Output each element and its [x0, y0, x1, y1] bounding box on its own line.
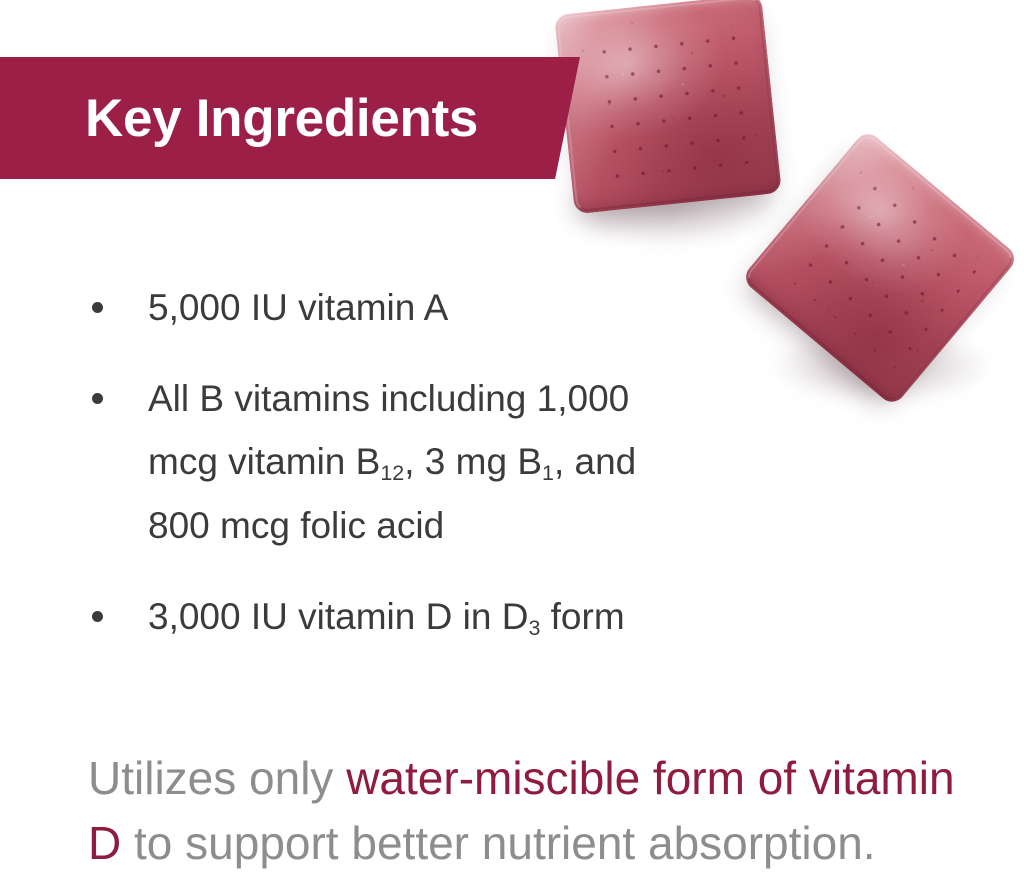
chewable-tablet-lower-image: [740, 129, 1019, 408]
bullet-dot-icon: [92, 611, 103, 622]
tablet-perforation-dots: [586, 22, 754, 179]
tablet-edge-rim: [556, 0, 779, 212]
text-run: Utilizes only: [88, 752, 346, 804]
bullet-dot-icon: [92, 393, 103, 404]
text-run: form: [540, 596, 624, 637]
page-title: Key Ingredients: [85, 92, 478, 145]
list-item-text: 3,000 IU vitamin D in D3 form: [148, 596, 625, 637]
tablet-highlight-sheen: [554, 0, 782, 214]
subscript: 3: [528, 616, 540, 640]
tablet-speckle-texture: [554, 0, 782, 214]
key-ingredients-panel: Key Ingredients 5,000 IU vitamin A All B…: [0, 0, 1024, 892]
text-run: 3,000 IU vitamin D in D: [148, 596, 528, 637]
subscript: 12: [380, 461, 404, 485]
tablet-highlight-sheen: [740, 129, 1019, 408]
list-item: 5,000 IU vitamin A: [88, 276, 708, 340]
tablet-edge-rim: [743, 131, 1017, 404]
text-run: to support better nutrient absorption.: [121, 817, 875, 869]
list-item-text: 5,000 IU vitamin A: [148, 287, 448, 328]
bullet-dot-icon: [92, 302, 103, 313]
text-run: 5,000 IU vitamin A: [148, 287, 448, 328]
tablet-lower-shadow: [776, 330, 986, 402]
list-item-text: All B vitamins including 1,000 mcg vitam…: [148, 378, 636, 546]
header-ribbon: Key Ingredients: [0, 57, 580, 179]
list-item: All B vitamins including 1,000 mcg vitam…: [88, 367, 708, 558]
tablet-perforation-dots: [782, 166, 985, 368]
chewable-tablet-upper-image: [554, 0, 782, 214]
list-item: 3,000 IU vitamin D in D3 form: [88, 585, 708, 649]
tablet-upper-shadow: [560, 170, 775, 244]
closing-statement: Utilizes only water-miscible form of vit…: [88, 746, 968, 876]
ingredients-list: 5,000 IU vitamin A All B vitamins includ…: [88, 276, 708, 648]
tablet-speckle-texture: [740, 129, 1019, 408]
subscript: 1: [542, 461, 554, 485]
text-run: , 3 mg B: [404, 441, 542, 482]
